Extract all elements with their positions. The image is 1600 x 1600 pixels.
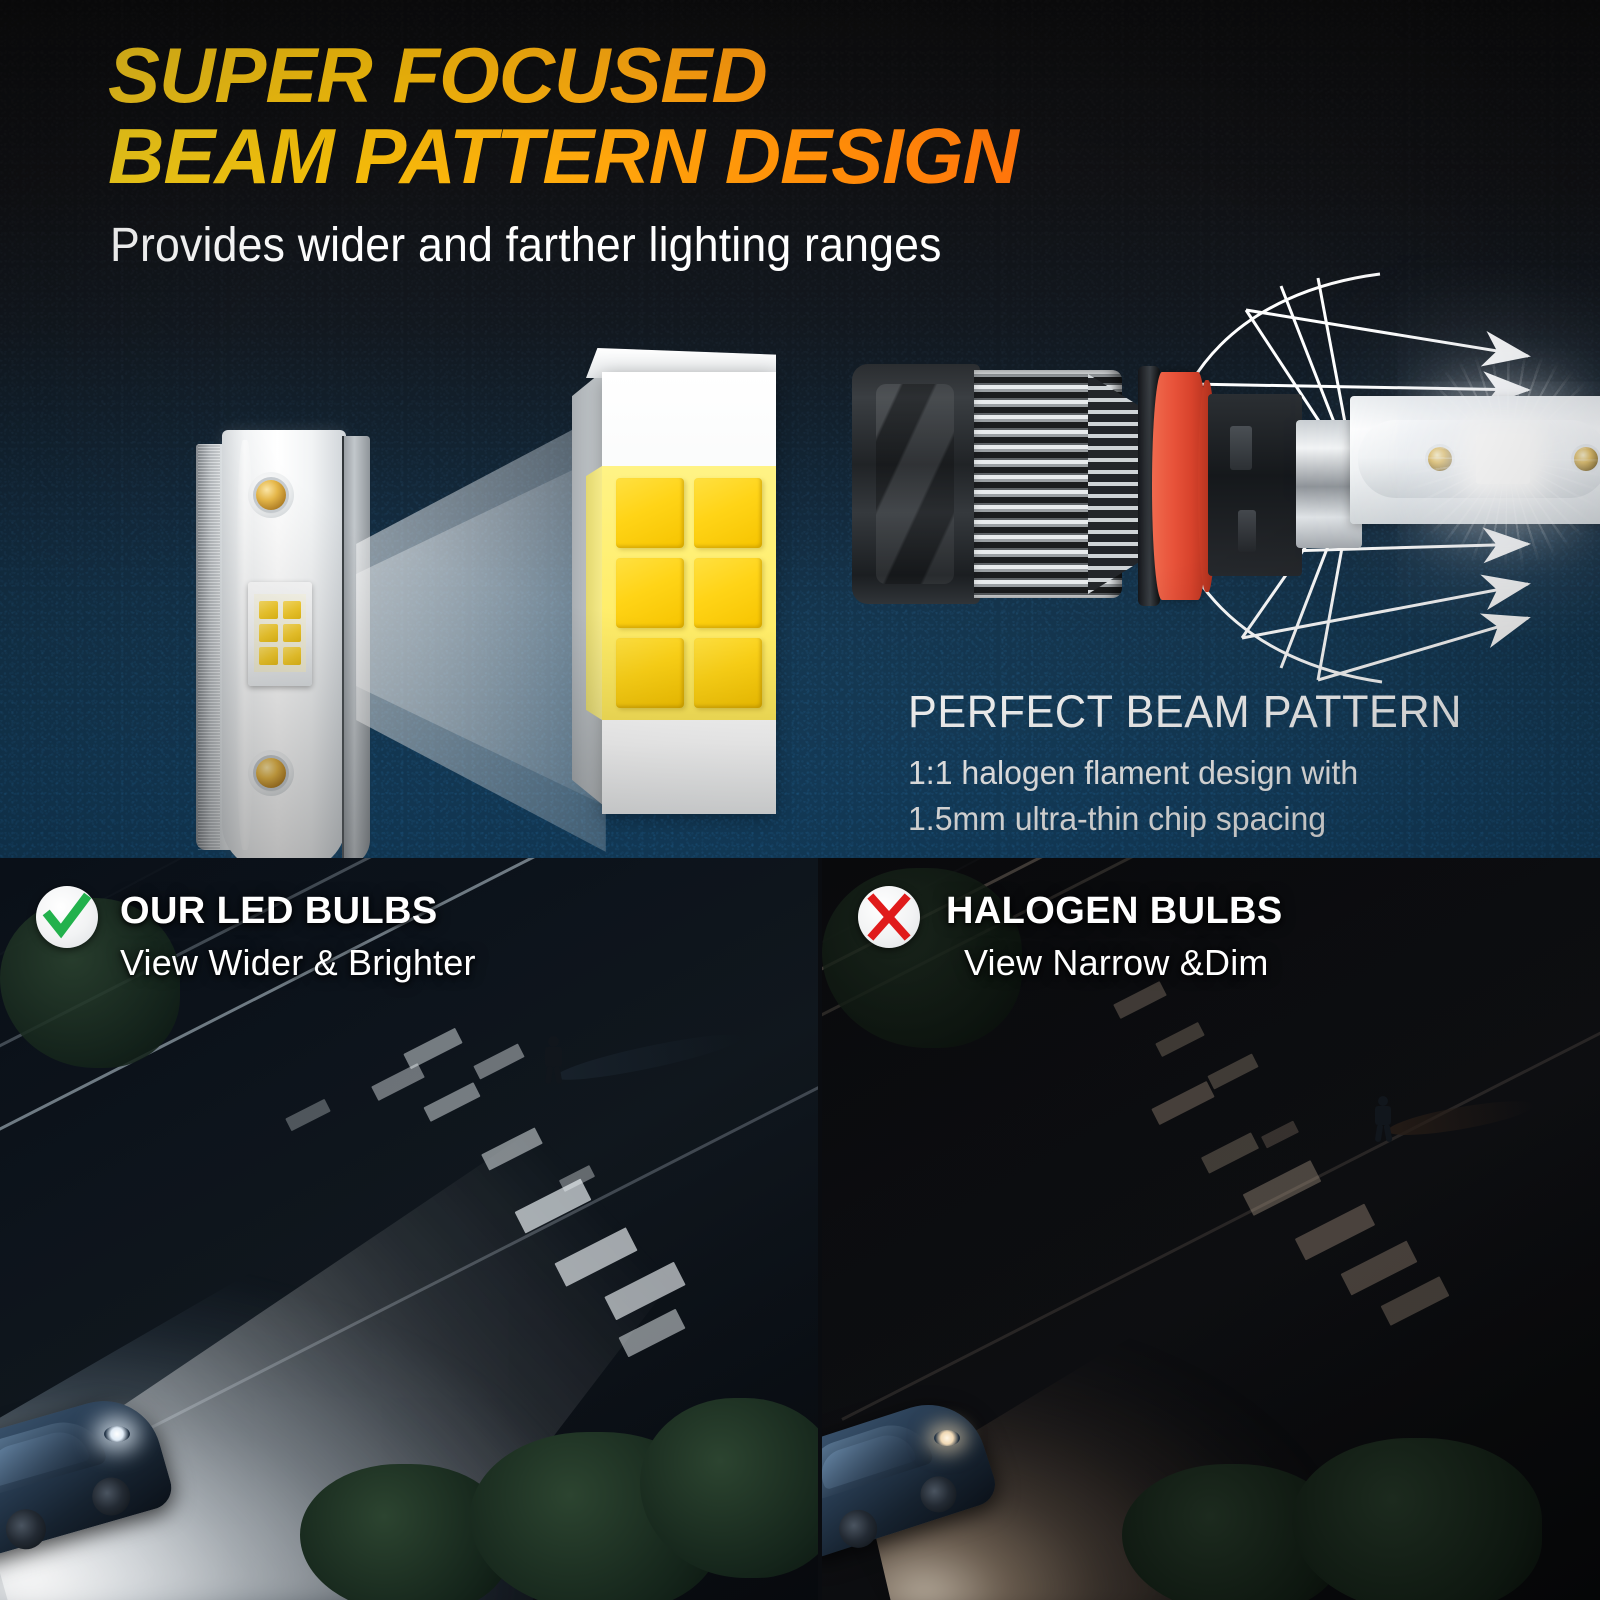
bulb-led-chip — [1476, 434, 1530, 484]
pedestrian-body — [1375, 1106, 1391, 1125]
pane-divider — [818, 858, 822, 1600]
screw-top-icon — [256, 480, 286, 510]
pedestrian-leg — [553, 1066, 562, 1085]
magnified-die — [694, 558, 762, 628]
check-badge — [36, 886, 98, 948]
led-die — [283, 601, 302, 619]
label-title-led: OUR LED BULBS — [120, 890, 438, 933]
cross-badge — [858, 886, 920, 948]
headline-line-1: SUPER FOCUSED — [108, 38, 1308, 113]
bulb-socket-tab-top — [1230, 426, 1252, 470]
led-emitter — [248, 582, 312, 686]
magnified-die — [616, 558, 684, 628]
bulb-socket-tab-bottom — [1238, 510, 1256, 552]
pedestrian — [540, 1036, 570, 1084]
bulb-screw-right-icon — [1574, 447, 1598, 471]
bulb-driver-cap — [852, 364, 980, 604]
pedestrian-head — [548, 1036, 559, 1047]
pedestrian-body — [545, 1047, 562, 1067]
product-infographic: SUPER FOCUSED BEAM PATTERN DESIGN Provid… — [0, 0, 1600, 1600]
comparison-pane-led: OUR LED BULBS View Wider & Brighter — [0, 858, 818, 1600]
top-hero-section: SUPER FOCUSED BEAM PATTERN DESIGN Provid… — [0, 0, 1600, 858]
check-icon — [36, 886, 98, 948]
magnified-die-grid — [616, 478, 762, 708]
magnified-die — [694, 638, 762, 708]
led-bulb — [852, 358, 1452, 618]
pedestrian-leg — [545, 1066, 553, 1085]
vehicle-headlight — [104, 1426, 130, 1442]
beam-caption-title: PERFECT BEAM PATTERN — [908, 686, 1522, 738]
led-die — [283, 647, 302, 665]
label-title-halogen: HALOGEN BULBS — [946, 890, 1283, 933]
cross-icon — [858, 886, 920, 948]
led-die — [259, 647, 278, 665]
pedestrian — [1370, 1096, 1400, 1142]
magnified-die — [694, 478, 762, 548]
pedestrian-leg — [1375, 1124, 1384, 1143]
comparison-section: OUR LED BULBS View Wider & Brighter — [0, 858, 1600, 1600]
bulb-screw-left-icon — [1428, 447, 1452, 471]
pedestrian-head — [1378, 1096, 1388, 1106]
magnified-die — [616, 478, 684, 548]
label-subtitle-halogen: View Narrow &Dim — [964, 942, 1269, 984]
screw-bottom-icon — [256, 758, 286, 788]
headline-subtitle: Provides wider and farther lighting rang… — [110, 218, 942, 273]
led-die — [283, 624, 302, 642]
magnified-chip-block — [572, 348, 784, 818]
label-subtitle-led: View Wider & Brighter — [120, 942, 476, 984]
comparison-pane-halogen: HALOGEN BULBS View Narrow &Dim — [822, 858, 1600, 1600]
beam-caption-line-1: 1:1 halogen flament design with — [908, 750, 1529, 796]
headline-line-2: BEAM PATTERN DESIGN — [108, 119, 1308, 194]
pedestrian-leg — [1383, 1124, 1392, 1143]
led-die — [259, 601, 278, 619]
led-die — [259, 624, 278, 642]
magnified-die — [616, 638, 684, 708]
beam-caption-line-2: 1.5mm ultra-thin chip spacing — [908, 796, 1529, 842]
chip-heatsink-ridges — [198, 444, 220, 850]
page-title: SUPER FOCUSED BEAM PATTERN DESIGN — [108, 38, 1308, 194]
roadside-bush — [1292, 1438, 1542, 1600]
vehicle-headlight — [934, 1430, 960, 1446]
led-die-grid — [259, 601, 301, 665]
beam-caption-block: PERFECT BEAM PATTERN 1:1 halogen flament… — [908, 686, 1548, 841]
